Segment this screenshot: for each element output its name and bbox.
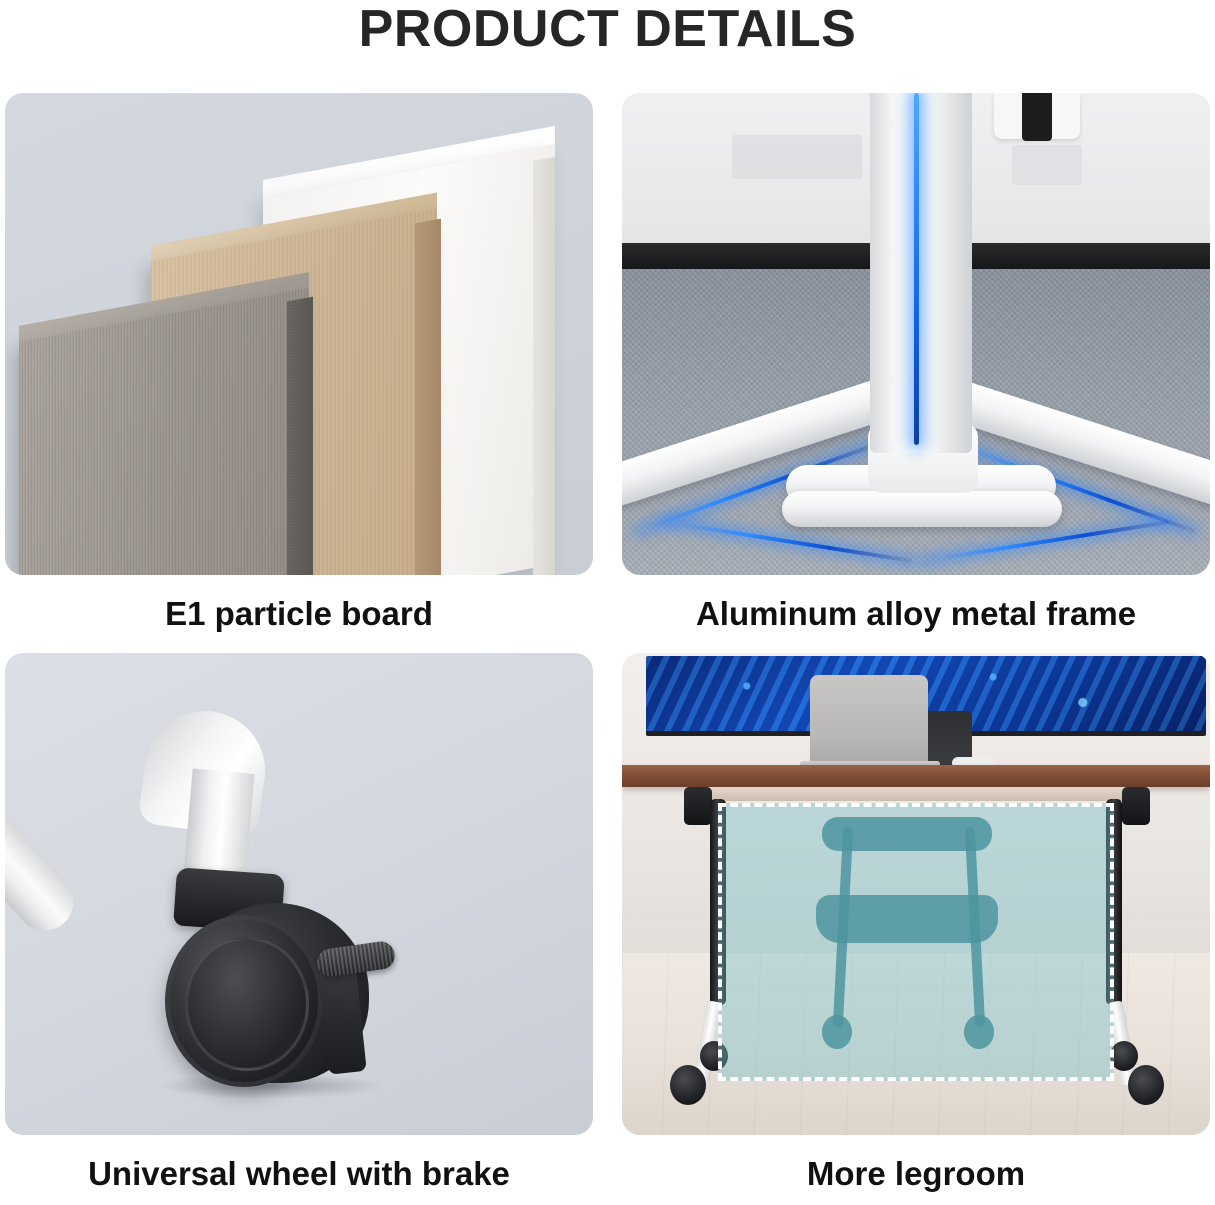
aluminum-frame-image: [622, 93, 1210, 575]
caption-more-legroom: More legroom: [622, 1153, 1210, 1195]
white-board-side-edge: [533, 157, 555, 575]
page-title: PRODUCT DETAILS: [0, 0, 1215, 58]
feature-grid: E1 particle board: [5, 93, 1210, 1193]
more-legroom-image: [622, 653, 1210, 1135]
caption-particle-board: E1 particle board: [5, 593, 593, 635]
desk-caster-front-left: [670, 1065, 706, 1105]
desk-underside: [686, 787, 1150, 801]
caption-universal-wheel: Universal wheel with brake: [5, 1153, 593, 1195]
leg-tube-upper: [5, 681, 86, 943]
laptop: [810, 675, 928, 767]
wheel-disc: [165, 915, 323, 1087]
wall-panel-left: [732, 135, 862, 179]
wood-board-side-edge: [415, 219, 441, 575]
legroom-highlight-zone: [718, 803, 1114, 1081]
wall-bracket-dark: [1022, 93, 1052, 141]
universal-wheel-image: [5, 653, 593, 1135]
feature-cell-aluminum-frame: Aluminum alloy metal frame: [622, 93, 1210, 635]
wall-panel-right: [1012, 145, 1082, 185]
feature-cell-particle-board: E1 particle board: [5, 93, 593, 635]
desk-mount-right: [1122, 787, 1150, 825]
desk-top: [622, 765, 1210, 787]
desk-mount-left: [684, 787, 712, 825]
frame-leg-front-b: [782, 491, 1062, 527]
desk-caster-front-right: [1128, 1065, 1164, 1105]
desk-caster-back-right: [1110, 1041, 1138, 1071]
feature-cell-more-legroom: More legroom: [622, 653, 1210, 1195]
feature-cell-universal-wheel: Universal wheel with brake: [5, 653, 593, 1195]
column-glow-line: [914, 93, 919, 445]
product-details-page: PRODUCT DETAILS E1 particle board: [0, 0, 1215, 1205]
gray-board-side-edge: [287, 297, 313, 575]
caption-aluminum-frame: Aluminum alloy metal frame: [622, 593, 1210, 635]
center-column: [870, 93, 972, 453]
particle-board-image: [5, 93, 593, 575]
